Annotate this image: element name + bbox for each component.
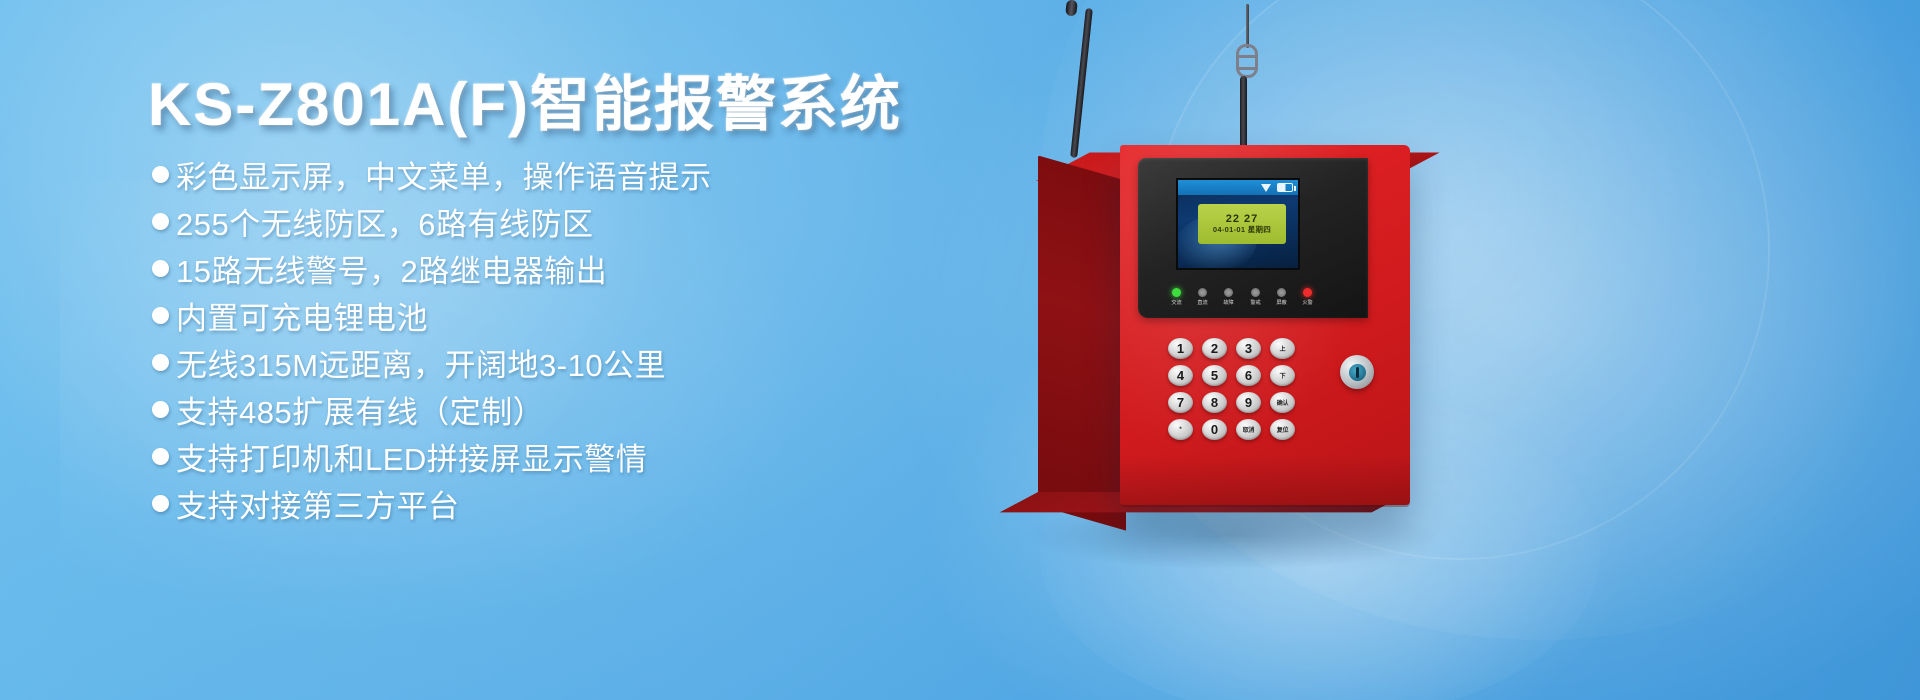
key-up[interactable]: 上 xyxy=(1270,338,1295,359)
status-led-ac: 交流 xyxy=(1172,288,1181,306)
feature-text: 无线315M远距离，开阔地3-10公里 xyxy=(176,340,666,385)
led-indicator-icon xyxy=(1277,288,1286,297)
lcd-date: 04-01-01 星期四 xyxy=(1213,226,1271,235)
status-led-bypass: 屏蔽 xyxy=(1277,288,1286,306)
lock-cylinder xyxy=(1349,364,1366,381)
enclosure-side xyxy=(1038,155,1126,530)
signal-icon xyxy=(1261,184,1271,192)
lcd-screen[interactable]: 22 27 04-01-01 星期四 xyxy=(1176,178,1300,270)
led-indicator-icon xyxy=(1303,288,1312,297)
bullet-dot-icon xyxy=(152,354,169,371)
bullet-dot-icon xyxy=(152,166,169,183)
led-indicator-icon xyxy=(1172,288,1181,297)
list-item: 255个无线防区，6路有线防区 xyxy=(152,199,712,244)
key-3[interactable]: 3 xyxy=(1236,338,1261,359)
led-label: 故障 xyxy=(1224,300,1234,307)
status-led-armed: 警戒 xyxy=(1251,288,1260,306)
led-label: 屏蔽 xyxy=(1276,300,1286,307)
banner-content: KS-Z801A(F)智能报警系统 彩色显示屏，中文菜单，操作语音提示 255个… xyxy=(0,0,960,700)
list-item: 无线315M远距离，开阔地3-10公里 xyxy=(152,340,712,385)
product-image: 22 27 04-01-01 星期四 交流 直流 故障 警戒 xyxy=(960,0,1920,700)
list-item: 内置可充电锂电池 xyxy=(152,293,712,338)
key-reset[interactable]: 复位 xyxy=(1270,419,1295,440)
key-9[interactable]: 9 xyxy=(1236,392,1261,413)
battery-icon xyxy=(1277,183,1293,192)
list-item: 支持对接第三方平台 xyxy=(152,481,712,526)
list-item: 支持打印机和LED拼接屏显示警情 xyxy=(152,434,712,479)
enclosure-front-shadow xyxy=(1120,455,1410,507)
key-confirm[interactable]: 确认 xyxy=(1270,392,1295,413)
feature-text: 彩色显示屏，中文菜单，操作语音提示 xyxy=(176,152,712,197)
bullet-dot-icon xyxy=(152,401,169,418)
key-1[interactable]: 1 xyxy=(1168,338,1193,359)
status-led-row: 交流 直流 故障 警戒 屏蔽 火警 xyxy=(1172,288,1312,306)
status-led-alarm: 火警 xyxy=(1303,288,1312,306)
key-lock-icon[interactable] xyxy=(1340,355,1374,389)
bullet-dot-icon xyxy=(152,307,169,324)
led-indicator-icon xyxy=(1251,288,1260,297)
promo-banner: KS-Z801A(F)智能报警系统 彩色显示屏，中文菜单，操作语音提示 255个… xyxy=(0,0,1920,700)
lcd-clock-panel: 22 27 04-01-01 星期四 xyxy=(1198,204,1286,244)
list-item: 支持485扩展有线（定制） xyxy=(152,387,712,432)
feature-text: 15路无线警号，2路继电器输出 xyxy=(176,246,607,291)
key-down[interactable]: 下 xyxy=(1270,365,1295,386)
led-label: 直流 xyxy=(1198,300,1208,307)
led-indicator-icon xyxy=(1198,288,1207,297)
feature-text: 支持485扩展有线（定制） xyxy=(176,387,544,432)
led-label: 警戒 xyxy=(1250,300,1260,307)
led-indicator-icon xyxy=(1224,288,1233,297)
key-4[interactable]: 4 xyxy=(1168,365,1193,386)
bullet-dot-icon xyxy=(152,260,169,277)
feature-text: 支持对接第三方平台 xyxy=(176,481,460,526)
lcd-status-bar xyxy=(1178,180,1298,195)
page-title: KS-Z801A(F)智能报警系统 xyxy=(148,56,902,143)
feature-text: 255个无线防区，6路有线防区 xyxy=(176,199,593,244)
feature-text: 内置可充电锂电池 xyxy=(176,293,428,338)
led-label: 火警 xyxy=(1302,300,1312,307)
key-7[interactable]: 7 xyxy=(1168,392,1193,413)
bullet-dot-icon xyxy=(152,448,169,465)
key-5[interactable]: 5 xyxy=(1202,365,1227,386)
status-led-fault: 故障 xyxy=(1224,288,1233,306)
bullet-dot-icon xyxy=(152,495,169,512)
feature-text: 支持打印机和LED拼接屏显示警情 xyxy=(176,434,647,479)
key-cancel[interactable]: 取消 xyxy=(1236,419,1261,440)
key-8[interactable]: 8 xyxy=(1202,392,1227,413)
key-star[interactable]: * xyxy=(1168,419,1193,440)
keypad[interactable]: 1 2 3 上 4 5 6 下 7 8 9 确认 * 0 取消 复位 xyxy=(1168,338,1300,443)
feature-list: 彩色显示屏，中文菜单，操作语音提示 255个无线防区，6路有线防区 15路无线警… xyxy=(152,152,712,528)
key-6[interactable]: 6 xyxy=(1236,365,1261,386)
bullet-dot-icon xyxy=(152,213,169,230)
list-item: 彩色显示屏，中文菜单，操作语音提示 xyxy=(152,152,712,197)
list-item: 15路无线警号，2路继电器输出 xyxy=(152,246,712,291)
key-0[interactable]: 0 xyxy=(1202,419,1227,440)
key-2[interactable]: 2 xyxy=(1202,338,1227,359)
status-led-dc: 直流 xyxy=(1198,288,1207,306)
led-label: 交流 xyxy=(1171,300,1181,307)
